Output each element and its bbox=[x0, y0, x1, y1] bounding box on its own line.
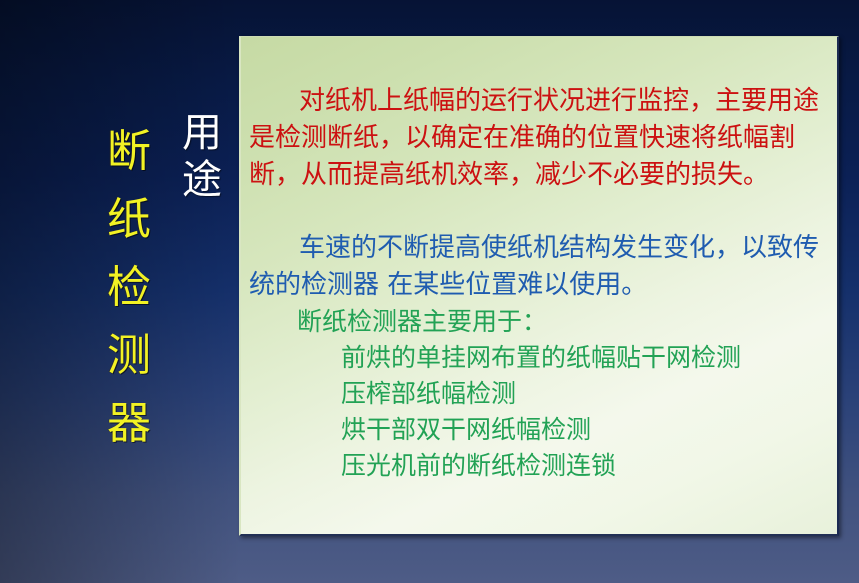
vertical-title-char-4: 测 bbox=[107, 322, 151, 390]
subtitle-char-2: 途 bbox=[182, 157, 222, 204]
content-panel-inner: 对纸机上纸幅的运行状况进行监控，主要用途是检测断纸，以确定在准确的位置快速将纸幅… bbox=[241, 37, 837, 534]
list-item: 压榨部纸幅检测 bbox=[341, 376, 837, 412]
list-item: 压光机前的断纸检测连锁 bbox=[341, 448, 837, 484]
list-item: 前烘的单挂网布置的纸幅贴干网检测 bbox=[341, 340, 837, 376]
vertical-title-char-1: 断 bbox=[107, 118, 151, 186]
red-paragraph: 对纸机上纸幅的运行状况进行监控，主要用途是检测断纸，以确定在准确的位置快速将纸幅… bbox=[249, 83, 837, 194]
blue-paragraph: 车速的不断提高使纸机结构发生变化，以致传统的检测器 在某些位置难以使用。 bbox=[249, 230, 837, 304]
vertical-title-char-2: 纸 bbox=[107, 186, 151, 254]
vertical-title-char-3: 检 bbox=[107, 254, 151, 322]
green-heading: 断纸检测器主要用于： bbox=[297, 304, 837, 340]
subtitle-vertical: 用 途 bbox=[176, 110, 228, 204]
green-list: 前烘的单挂网布置的纸幅贴干网检测 压榨部纸幅检测 烘干部双干网纸幅检测 压光机前… bbox=[341, 340, 837, 484]
presentation-slide: 断 纸 检 测 器 用 途 对纸机上纸幅的运行状况进行监控，主要用途是检测断纸，… bbox=[0, 0, 859, 583]
vertical-title-char-5: 器 bbox=[107, 390, 151, 458]
content-panel: 对纸机上纸幅的运行状况进行监控，主要用途是检测断纸，以确定在准确的位置快速将纸幅… bbox=[239, 36, 839, 536]
list-item: 烘干部双干网纸幅检测 bbox=[341, 412, 837, 448]
vertical-title: 断 纸 检 测 器 bbox=[98, 118, 160, 458]
subtitle-char-1: 用 bbox=[182, 110, 222, 157]
